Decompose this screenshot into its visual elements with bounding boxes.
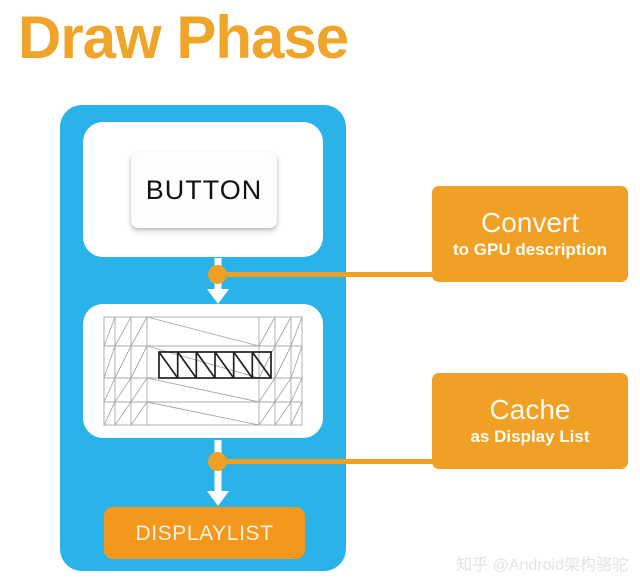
page-title: Draw Phase [18,2,348,74]
callout-convert: Convert to GPU description [432,186,628,282]
callout-cache-title: Cache [490,394,571,425]
connector-dot-convert [208,265,227,284]
arrow-head-icon [207,491,229,506]
mesh-wireframe-graphic [103,316,303,426]
pipeline-panel: BUTTON [60,105,346,571]
callout-cache-subtitle: as Display List [470,427,589,447]
watermark: 知乎 @Android架构骆驼 [456,558,628,574]
stage-card-mesh [83,304,323,438]
connector-line-convert [225,272,440,277]
connector-dot-cache [208,452,227,471]
connector-line-cache [225,459,440,464]
button-widget[interactable]: BUTTON [131,152,277,228]
stage-card-button: BUTTON [83,122,323,257]
callout-cache: Cache as Display List [432,373,628,469]
button-widget-label: BUTTON [146,177,263,204]
flow-arrow-cache [207,440,229,506]
displaylist-label: DISPLAYLIST [135,523,273,544]
callout-convert-title: Convert [481,207,579,238]
callout-convert-subtitle: to GPU description [453,240,607,260]
arrow-head-icon [207,289,229,304]
displaylist-chip: DISPLAYLIST [104,507,305,559]
